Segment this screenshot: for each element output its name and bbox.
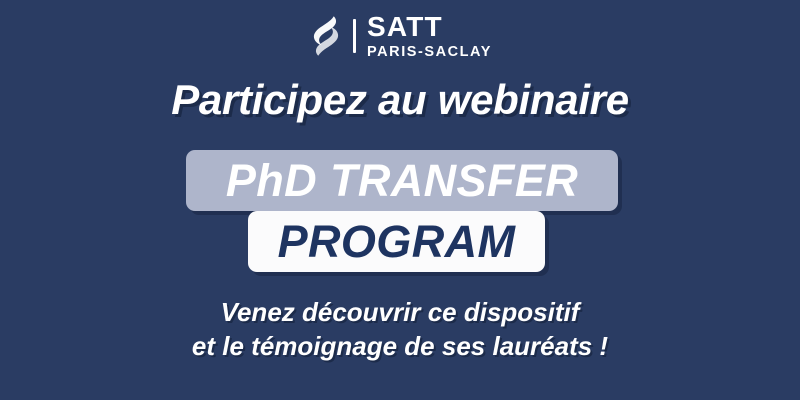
satt-flame-s-mark-icon	[308, 15, 344, 57]
brand-logo-lockup: SATT PARIS-SACLAY	[0, 12, 800, 60]
promo-banner: SATT PARIS-SACLAY Participez au webinair…	[0, 0, 800, 400]
title-band-program: PROGRAM	[248, 211, 545, 272]
logo-region-name: PARIS-SACLAY	[367, 45, 492, 60]
tagline-line-1: Venez découvrir ce dispositif	[0, 296, 800, 330]
title-band-program-label: PROGRAM	[278, 216, 516, 268]
logo-wordmark: SATT PARIS-SACLAY	[367, 13, 492, 60]
logo-divider	[353, 19, 356, 53]
logo-brand-name: SATT	[367, 13, 492, 41]
title-band-phd-transfer: PhD TRANSFER	[186, 150, 618, 211]
title-band-phd-transfer-label: PhD TRANSFER	[226, 155, 578, 207]
tagline-block: Venez découvrir ce dispositif et le témo…	[0, 296, 800, 364]
tagline-line-2: et le témoignage de ses lauréats !	[0, 330, 800, 364]
headline-text: Participez au webinaire	[0, 76, 800, 124]
